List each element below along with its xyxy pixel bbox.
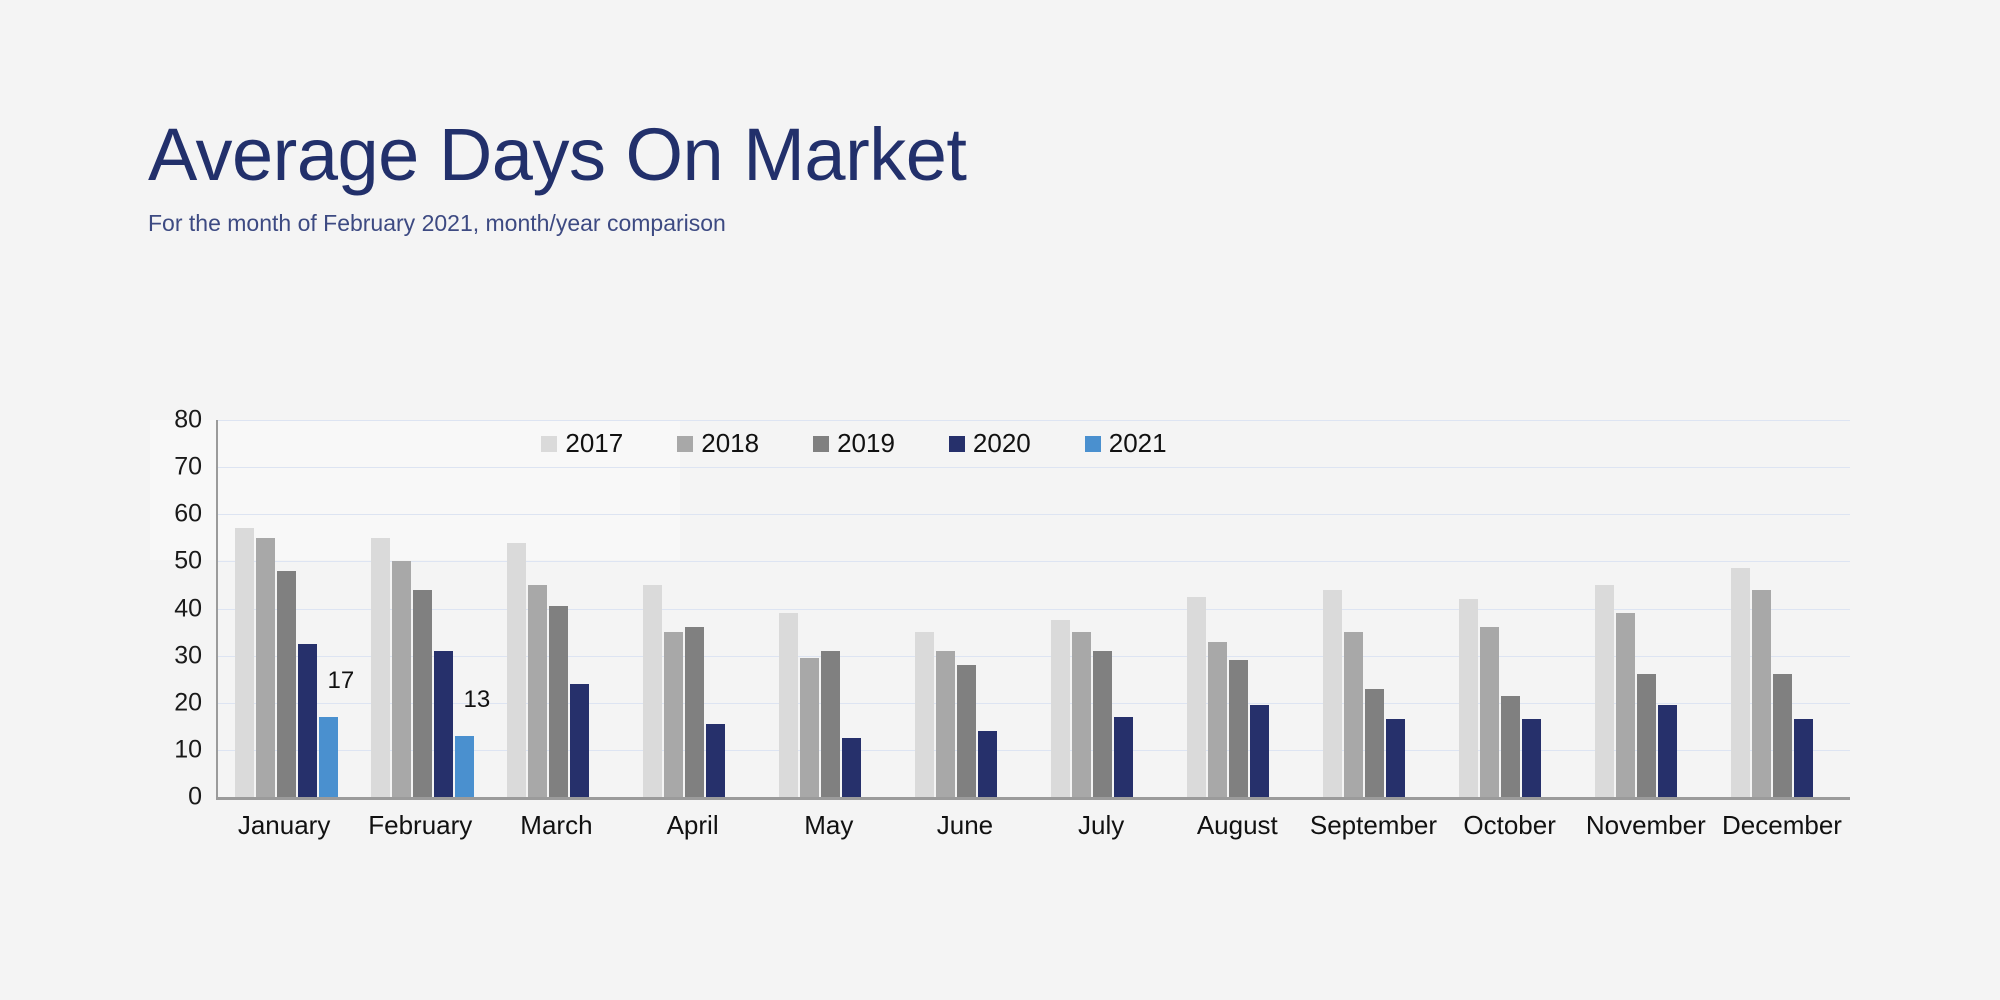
- bar-2021-February[interactable]: [455, 736, 474, 797]
- plot-area: 20172018201920202021 1713: [216, 420, 1850, 800]
- bar-2020-February[interactable]: [434, 651, 453, 797]
- bar-2018-October[interactable]: [1480, 627, 1499, 797]
- bar-slot: 17: [319, 420, 338, 797]
- bar-slot: [706, 420, 725, 797]
- bar-slot: [1344, 420, 1363, 797]
- bar-2017-January[interactable]: [235, 528, 254, 797]
- bar-slot: [1135, 420, 1154, 797]
- bar-slot: [727, 420, 746, 797]
- bar-2018-November[interactable]: [1616, 613, 1635, 797]
- page-subtitle: For the month of February 2021, month/ye…: [148, 210, 1548, 237]
- bar-slot: [1051, 420, 1070, 797]
- bar-group: [762, 420, 898, 797]
- bar-slot: [298, 420, 317, 797]
- bar-2020-September[interactable]: [1386, 719, 1405, 797]
- bar-slot: 13: [455, 420, 474, 797]
- bar-slot: [1187, 420, 1206, 797]
- bar-2018-June[interactable]: [936, 651, 955, 797]
- bar-group: [898, 420, 1034, 797]
- bar-slot: [779, 420, 798, 797]
- bar-2018-December[interactable]: [1752, 590, 1771, 797]
- bar-slot: [1794, 420, 1813, 797]
- bar-slot: [507, 420, 526, 797]
- bar-groups: 1713: [218, 420, 1850, 797]
- x-axis-label-july: July: [1033, 810, 1169, 841]
- bar-2020-December[interactable]: [1794, 719, 1813, 797]
- bar-slot: [1386, 420, 1405, 797]
- bar-2017-June[interactable]: [915, 632, 934, 797]
- bar-2020-November[interactable]: [1658, 705, 1677, 797]
- bar-slot: [392, 420, 411, 797]
- bar-slot: [936, 420, 955, 797]
- bar-slot: [1595, 420, 1614, 797]
- bar-slot: [277, 420, 296, 797]
- x-axis-label-february: February: [352, 810, 488, 841]
- bar-2019-October[interactable]: [1501, 696, 1520, 797]
- bar-2018-January[interactable]: [256, 538, 275, 797]
- x-axis-label-january: January: [216, 810, 352, 841]
- bar-slot: [643, 420, 662, 797]
- bar-2019-March[interactable]: [549, 606, 568, 797]
- bar-2017-April[interactable]: [643, 585, 662, 797]
- bar-slot: [591, 420, 610, 797]
- x-axis-label-march: March: [488, 810, 624, 841]
- bar-slot: [413, 420, 432, 797]
- bar-slot: [1459, 420, 1478, 797]
- bar-group: [1714, 420, 1850, 797]
- y-axis-tick: 30: [174, 641, 202, 670]
- bar-slot: [664, 420, 683, 797]
- y-axis-tick: 40: [174, 594, 202, 623]
- y-axis-tick: 20: [174, 688, 202, 717]
- bar-2017-May[interactable]: [779, 613, 798, 797]
- bar-2019-November[interactable]: [1637, 674, 1656, 797]
- bar-2017-February[interactable]: [371, 538, 390, 797]
- bar-2019-May[interactable]: [821, 651, 840, 797]
- bar-slot: [1208, 420, 1227, 797]
- y-axis: 80706050403020100: [150, 420, 202, 800]
- bar-slot: [1365, 420, 1384, 797]
- y-axis-tick: 0: [188, 783, 202, 812]
- bar-slot: [1271, 420, 1290, 797]
- bar-group: [1578, 420, 1714, 797]
- bar-2019-September[interactable]: [1365, 689, 1384, 797]
- bar-2018-February[interactable]: [392, 561, 411, 797]
- bar-group: [490, 420, 626, 797]
- x-axis-label-may: May: [761, 810, 897, 841]
- bar-slot: [1815, 420, 1834, 797]
- x-axis-line: [218, 797, 1850, 800]
- x-axis-label-august: August: [1169, 810, 1305, 841]
- bar-slot: [1616, 420, 1635, 797]
- x-axis-label-november: November: [1578, 810, 1714, 841]
- bar-slot: [528, 420, 547, 797]
- bar-group: [626, 420, 762, 797]
- bar-slot: [371, 420, 390, 797]
- bar-2017-December[interactable]: [1731, 568, 1750, 797]
- page-title: Average Days On Market: [148, 118, 1548, 192]
- bar-slot: [915, 420, 934, 797]
- bar-slot: [1250, 420, 1269, 797]
- bar-2020-January[interactable]: [298, 644, 317, 797]
- bar-2020-March[interactable]: [570, 684, 589, 797]
- bar-slot: [1501, 420, 1520, 797]
- bar-slot: [1773, 420, 1792, 797]
- x-axis-label-september: September: [1305, 810, 1441, 841]
- bar-group: 13: [354, 420, 490, 797]
- bar-2018-March[interactable]: [528, 585, 547, 797]
- bar-slot: [1658, 420, 1677, 797]
- bar-2019-January[interactable]: [277, 571, 296, 797]
- x-axis: JanuaryFebruaryMarchAprilMayJuneJulyAugu…: [216, 810, 1850, 841]
- bar-2019-February[interactable]: [413, 590, 432, 797]
- bar-2020-April[interactable]: [706, 724, 725, 797]
- bar-2019-August[interactable]: [1229, 660, 1248, 797]
- bar-slot: [1093, 420, 1112, 797]
- bar-2020-August[interactable]: [1250, 705, 1269, 797]
- x-axis-label-december: December: [1714, 810, 1850, 841]
- y-axis-tick: 80: [174, 406, 202, 435]
- bar-slot: [1731, 420, 1750, 797]
- x-axis-label-april: April: [625, 810, 761, 841]
- bar-slot: [1752, 420, 1771, 797]
- bar-2020-October[interactable]: [1522, 719, 1541, 797]
- bar-slot: [999, 420, 1018, 797]
- bar-slot: [1323, 420, 1342, 797]
- x-axis-label-june: June: [897, 810, 1033, 841]
- bar-slot: [1480, 420, 1499, 797]
- bar-slot: [434, 420, 453, 797]
- bar-slot: [821, 420, 840, 797]
- bar-2021-January[interactable]: [319, 717, 338, 797]
- bar-group: [1306, 420, 1442, 797]
- bar-slot: [1679, 420, 1698, 797]
- y-axis-tick: 70: [174, 453, 202, 482]
- bar-2019-July[interactable]: [1093, 651, 1112, 797]
- bar-2018-May[interactable]: [800, 658, 819, 797]
- bar-2018-April[interactable]: [664, 632, 683, 797]
- bar-2017-July[interactable]: [1051, 620, 1070, 797]
- bar-2018-September[interactable]: [1344, 632, 1363, 797]
- bar-slot: [1114, 420, 1133, 797]
- bar-slot: [842, 420, 861, 797]
- bar-2019-December[interactable]: [1773, 674, 1792, 797]
- bar-slot: [1072, 420, 1091, 797]
- bar-slot: [1229, 420, 1248, 797]
- bar-2017-August[interactable]: [1187, 597, 1206, 797]
- bar-slot: [863, 420, 882, 797]
- chart-header: Average Days On Market For the month of …: [148, 118, 1548, 237]
- bar-2019-June[interactable]: [957, 665, 976, 797]
- bar-2017-September[interactable]: [1323, 590, 1342, 797]
- bar-slot: [800, 420, 819, 797]
- bar-chart: 80706050403020100 20172018201920202021 1…: [150, 420, 1850, 840]
- bar-2020-May[interactable]: [842, 738, 861, 797]
- y-axis-tick: 60: [174, 500, 202, 529]
- bar-2017-October[interactable]: [1459, 599, 1478, 797]
- bar-slot: [549, 420, 568, 797]
- bar-2020-July[interactable]: [1114, 717, 1133, 797]
- bar-slot: [1543, 420, 1562, 797]
- bar-slot: [957, 420, 976, 797]
- y-axis-tick: 10: [174, 735, 202, 764]
- bar-group: [1170, 420, 1306, 797]
- bar-2019-April[interactable]: [685, 627, 704, 797]
- bar-slot: [1407, 420, 1426, 797]
- bar-slot: [1522, 420, 1541, 797]
- bar-slot: [570, 420, 589, 797]
- x-axis-label-october: October: [1442, 810, 1578, 841]
- bar-slot: [978, 420, 997, 797]
- bar-2018-August[interactable]: [1208, 642, 1227, 798]
- bar-data-label: 17: [328, 667, 355, 695]
- bar-2017-November[interactable]: [1595, 585, 1614, 797]
- bar-2017-March[interactable]: [507, 543, 526, 797]
- bar-slot: [685, 420, 704, 797]
- bar-group: [1442, 420, 1578, 797]
- bar-2020-June[interactable]: [978, 731, 997, 797]
- bar-group: [1034, 420, 1170, 797]
- bar-data-label: 13: [464, 686, 491, 714]
- bar-slot: [1637, 420, 1656, 797]
- bar-slot: [256, 420, 275, 797]
- y-axis-tick: 50: [174, 547, 202, 576]
- bar-group: 17: [218, 420, 354, 797]
- bar-slot: [235, 420, 254, 797]
- bar-2018-July[interactable]: [1072, 632, 1091, 797]
